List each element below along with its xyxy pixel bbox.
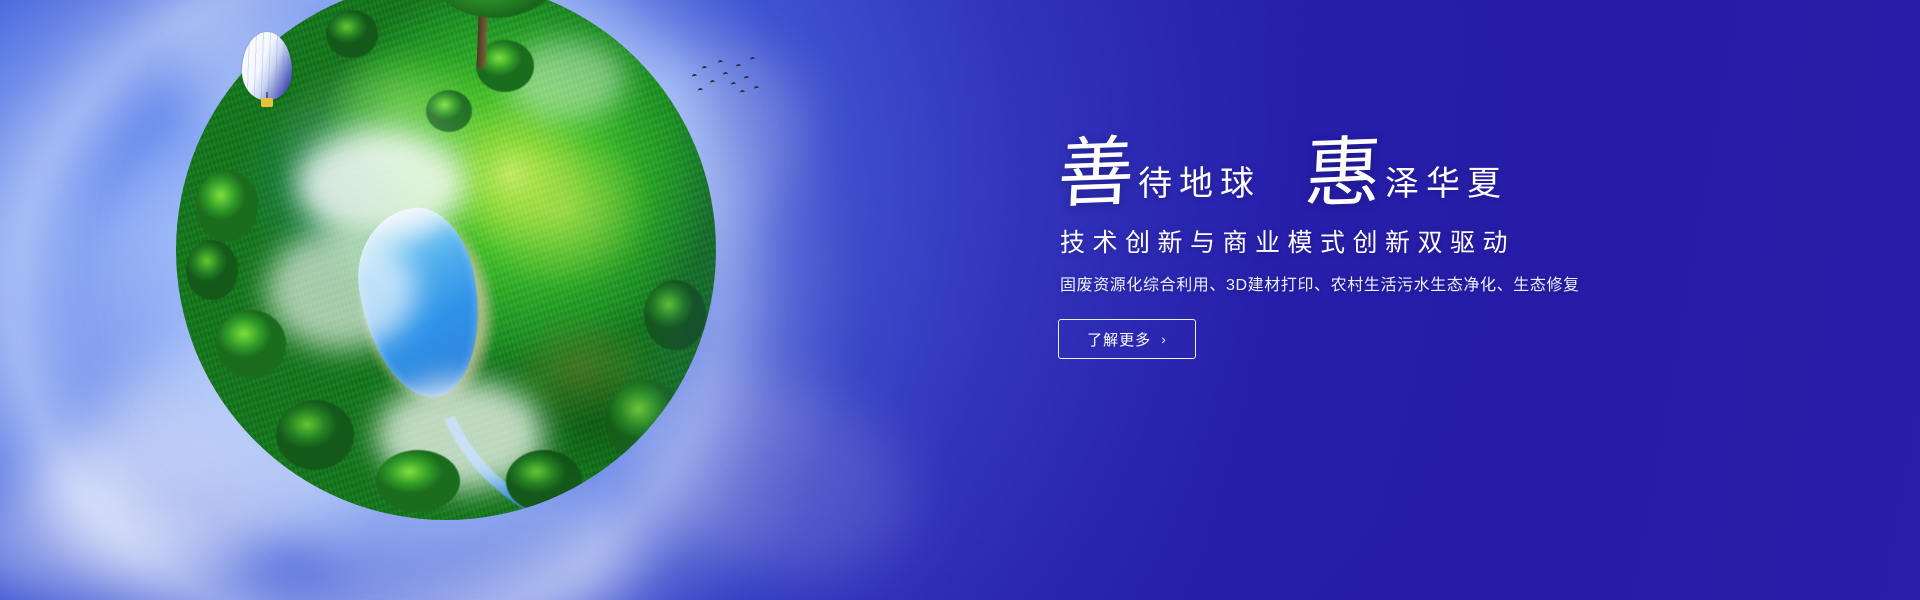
- headline-phrase-1: 善 待地球: [1058, 140, 1261, 210]
- headline-rest-chars: 泽华夏: [1385, 168, 1508, 210]
- learn-more-button[interactable]: 了解更多 ›: [1058, 319, 1196, 359]
- headline-rest-chars: 待地球: [1138, 168, 1261, 210]
- chevron-right-icon: ›: [1161, 331, 1167, 347]
- headline-lead-char: 善: [1056, 139, 1136, 212]
- headline-lead-char: 惠: [1303, 139, 1383, 212]
- hero-banner: 善 待地球 惠 泽华夏 技术创新与商业模式创新双驱动 固废资源化综合利用、3D建…: [0, 0, 1920, 600]
- hero-copy: 善 待地球 惠 泽华夏 技术创新与商业模式创新双驱动 固废资源化综合利用、3D建…: [1058, 140, 1778, 359]
- learn-more-label: 了解更多: [1087, 329, 1151, 350]
- headline-phrase-2: 惠 泽华夏: [1305, 140, 1508, 210]
- hero-subtitle: 技术创新与商业模式创新双驱动: [1060, 228, 1778, 258]
- hero-description: 固废资源化综合利用、3D建材打印、农村生活污水生态净化、生态修复: [1060, 275, 1778, 297]
- page-title: 善 待地球 惠 泽华夏: [1058, 140, 1778, 210]
